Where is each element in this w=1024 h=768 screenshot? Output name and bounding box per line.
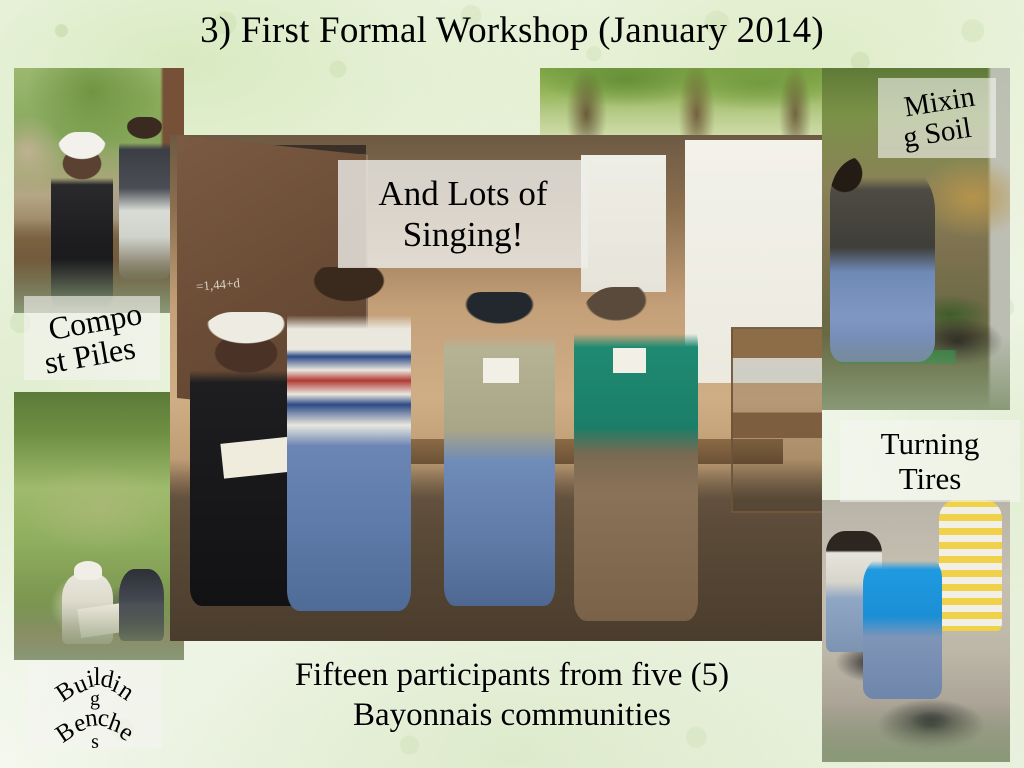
wooden-chair (731, 327, 822, 513)
label-turning-line1: Turning (881, 428, 980, 459)
figure-person-mixing-soil (830, 157, 935, 362)
figure-man-with-cap (444, 292, 555, 606)
figure-man-striped-polo (287, 267, 411, 611)
figure-second-person (119, 569, 163, 641)
caption-singing-line2: Singing! (403, 214, 524, 255)
figure-tire-worker-yellow (939, 500, 1003, 631)
label-turning-tires: Turning Tires (840, 420, 1020, 502)
caption-participants: Fifteen participants from five (5) Bayon… (0, 655, 1024, 736)
figure-seated-man-cap (74, 561, 103, 580)
label-turning-line2: Tires (899, 463, 962, 494)
figure-man-green-shirt (574, 287, 698, 621)
figure-woman-standing (51, 132, 112, 308)
photo-top-left-participants (14, 68, 184, 313)
caption-singing-line1: And Lots of (378, 173, 547, 214)
flipchart-note-sheet (581, 155, 666, 292)
caption-bottom-line2: Bayonnais communities (0, 695, 1024, 735)
figure-seated-man-paper (77, 603, 125, 638)
label-mixing-soil: Mixin g Soil (878, 78, 996, 158)
caption-bottom-line1: Fifteen participants from five (5) (0, 655, 1024, 695)
photo-field-garden (14, 392, 184, 660)
name-tag-two (613, 348, 646, 373)
name-tag-one (483, 358, 519, 383)
slide-title: 3) First Formal Workshop (January 2014) (0, 12, 1024, 51)
caption-and-lots-of-singing: And Lots of Singing! (338, 160, 588, 268)
label-mixing-line2: g Soil (901, 114, 973, 153)
figure-man-standing (119, 117, 170, 279)
presentation-slide: =1,44+d 3) First Formal Workshop (Januar… (0, 0, 1024, 768)
blackboard-chalk-text: =1,44+d (195, 275, 240, 295)
label-compost-piles: Compo st Piles (24, 296, 160, 380)
